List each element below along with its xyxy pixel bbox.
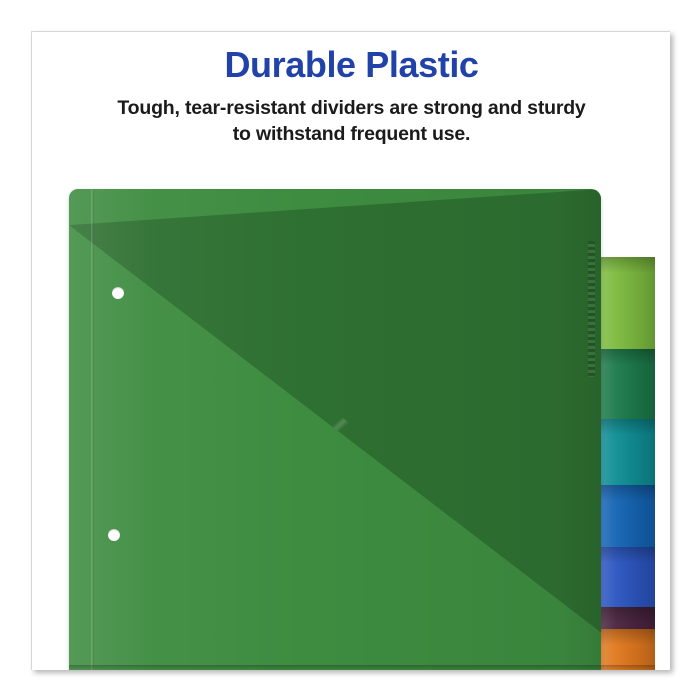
tab-top-shadow bbox=[601, 419, 655, 435]
cover-gloss-overlay bbox=[69, 189, 601, 670]
tab-royal-blue bbox=[601, 547, 655, 607]
cover-binding-crease bbox=[91, 189, 94, 670]
pocket-perforated-seam bbox=[588, 241, 595, 377]
punch-hole-bottom bbox=[108, 529, 120, 541]
product-base-shadow bbox=[69, 665, 655, 670]
tab-orange bbox=[601, 629, 655, 670]
tab-top-shadow bbox=[601, 547, 655, 563]
product-feature-card: Durable Plastic Tough, tear-resistant di… bbox=[31, 31, 670, 670]
tab-top-shadow bbox=[601, 257, 655, 273]
tab-blue bbox=[601, 485, 655, 547]
tab-top-shadow bbox=[601, 607, 655, 623]
tab-top-shadow bbox=[601, 485, 655, 501]
tab-lime-green bbox=[601, 257, 655, 349]
headline-block: Durable Plastic Tough, tear-resistant di… bbox=[32, 46, 670, 148]
subtitle-line-2: to withstand frequent use. bbox=[62, 122, 642, 148]
subtitle-line-1: Tough, tear-resistant dividers are stron… bbox=[62, 96, 642, 122]
page-title: Durable Plastic bbox=[32, 46, 670, 85]
page-subtitle: Tough, tear-resistant dividers are stron… bbox=[62, 96, 642, 148]
tab-purple bbox=[601, 607, 655, 629]
green-pocket-divider-cover bbox=[69, 189, 601, 670]
tab-top-shadow bbox=[601, 629, 655, 645]
tab-dark-green bbox=[601, 349, 655, 419]
tab-teal bbox=[601, 419, 655, 485]
tab-top-shadow bbox=[601, 349, 655, 365]
divider-tab-stack bbox=[601, 221, 655, 670]
punch-hole-top bbox=[112, 287, 124, 299]
